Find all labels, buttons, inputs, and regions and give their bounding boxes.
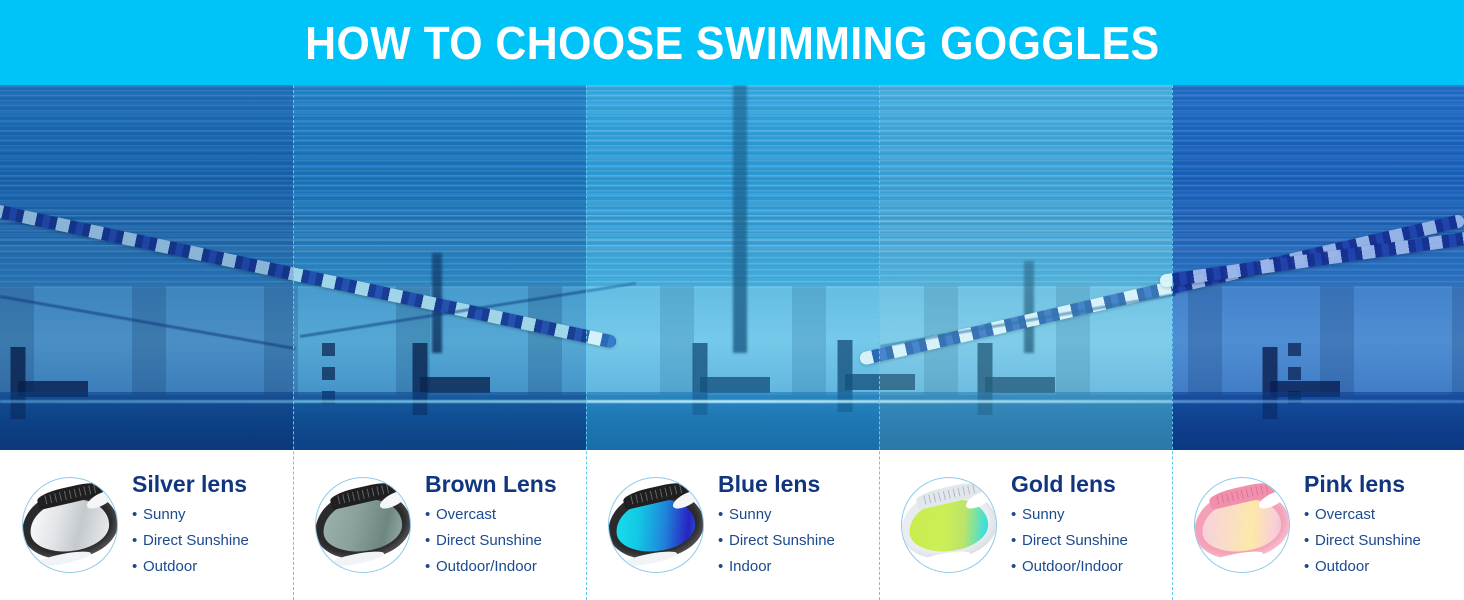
lens-card-silver[interactable]: Silver lens Sunny Direct Sunshine Outdoo…: [0, 450, 293, 600]
bullet-item: Overcast: [425, 502, 557, 528]
bullet-item: Direct Sunshine: [1304, 528, 1421, 554]
card-text-pink: Pink lens Overcast Direct Sunshine Outdo…: [1304, 470, 1421, 580]
lens-title: Pink lens: [1304, 472, 1421, 497]
header-banner: HOW TO CHOOSE SWIMMING GOGGLES: [0, 0, 1464, 85]
bullet-item: Sunny: [718, 502, 835, 528]
lens-bullets: Sunny Direct Sunshine Indoor: [718, 502, 835, 579]
bullet-item: Indoor: [718, 554, 835, 580]
pool-photo-strip: [0, 85, 1464, 450]
bullet-item: Direct Sunshine: [1011, 528, 1128, 554]
goggles-icon-brown: [315, 477, 411, 573]
goggles-icon-silver: [22, 477, 118, 573]
lens-bullets: Sunny Direct Sunshine Outdoor/Indoor: [1011, 502, 1128, 579]
panel-divider: [293, 85, 294, 600]
card-text-brown: Brown Lens Overcast Direct Sunshine Outd…: [425, 470, 557, 580]
lens-bullets: Sunny Direct Sunshine Outdoor: [132, 502, 249, 579]
goggles-icon-pink: [1194, 477, 1290, 573]
tile-marker: [322, 367, 335, 380]
bullet-item: Sunny: [132, 502, 249, 528]
tile-marker: [1288, 367, 1301, 380]
pool-scene: [0, 85, 1464, 450]
bullet-item: Outdoor/Indoor: [425, 554, 557, 580]
bullet-item: Direct Sunshine: [718, 528, 835, 554]
pool-drop-line: [1024, 261, 1034, 353]
panel-divider: [586, 85, 587, 600]
lens-card-gold[interactable]: Gold lens Sunny Direct Sunshine Outdoor/…: [879, 450, 1172, 600]
card-text-silver: Silver lens Sunny Direct Sunshine Outdoo…: [132, 470, 249, 580]
infographic-root: HOW TO CHOOSE SWIMMING GOGGLES: [0, 0, 1464, 600]
goggles-icon-gold: [901, 477, 997, 573]
lens-cards-row: Silver lens Sunny Direct Sunshine Outdoo…: [0, 450, 1464, 600]
page-title: HOW TO CHOOSE SWIMMING GOGGLES: [305, 20, 1160, 66]
tile-marker: [322, 343, 335, 356]
card-text-blue: Blue lens Sunny Direct Sunshine Indoor: [718, 470, 835, 580]
lens-title: Blue lens: [718, 472, 835, 497]
panel-divider: [879, 85, 880, 600]
lens-card-blue[interactable]: Blue lens Sunny Direct Sunshine Indoor: [586, 450, 879, 600]
lens-title: Gold lens: [1011, 472, 1128, 497]
pool-deck-edge: [0, 400, 1464, 403]
lens-bullets: Overcast Direct Sunshine Outdoor: [1304, 502, 1421, 579]
bullet-item: Overcast: [1304, 502, 1421, 528]
panel-divider: [1172, 85, 1173, 600]
pool-drop-line: [733, 85, 747, 353]
bullet-item: Direct Sunshine: [425, 528, 557, 554]
card-text-gold: Gold lens Sunny Direct Sunshine Outdoor/…: [1011, 470, 1128, 580]
lens-title: Silver lens: [132, 472, 249, 497]
goggles-icon-blue: [608, 477, 704, 573]
tile-marker: [1288, 343, 1301, 356]
lens-card-pink[interactable]: Pink lens Overcast Direct Sunshine Outdo…: [1172, 450, 1464, 600]
bullet-item: Direct Sunshine: [132, 528, 249, 554]
bullet-item: Outdoor: [1304, 554, 1421, 580]
lens-bullets: Overcast Direct Sunshine Outdoor/Indoor: [425, 502, 557, 579]
bullet-item: Outdoor/Indoor: [1011, 554, 1128, 580]
bullet-item: Outdoor: [132, 554, 249, 580]
lens-title: Brown Lens: [425, 472, 557, 497]
bullet-item: Sunny: [1011, 502, 1128, 528]
lens-card-brown[interactable]: Brown Lens Overcast Direct Sunshine Outd…: [293, 450, 586, 600]
